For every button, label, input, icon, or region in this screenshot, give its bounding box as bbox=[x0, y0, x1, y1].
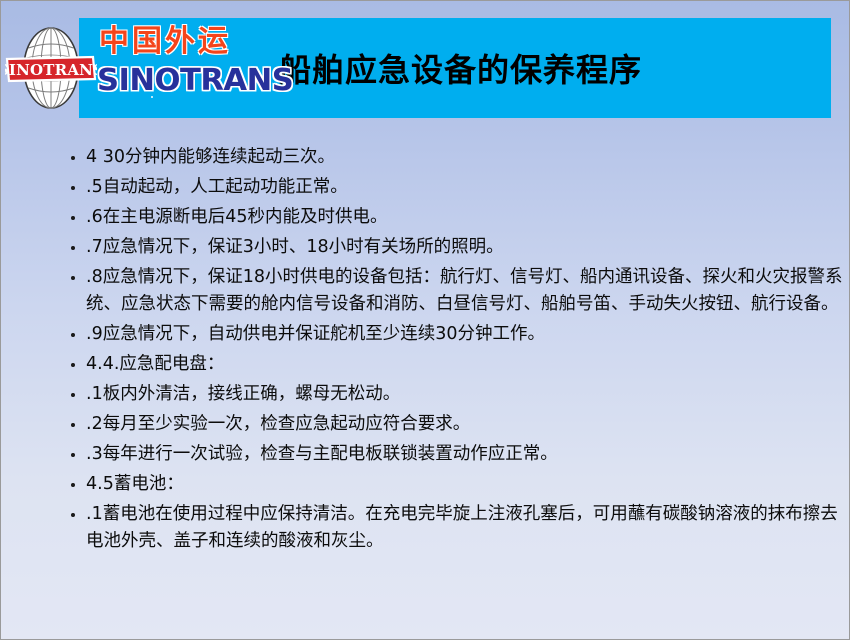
list-item: .9应急情况下，自动供电并保证舵机至少连续30分钟工作。 bbox=[61, 321, 841, 348]
list-item-text: .5自动起动，人工起动功能正常。 bbox=[86, 174, 841, 201]
list-item: .7应急情况下，保证3小时、18小时有关场所的照明。 bbox=[61, 234, 841, 261]
brand-name-chinese: 中国外运 bbox=[99, 25, 231, 59]
list-item-text: 4.5蓄电池： bbox=[86, 471, 841, 498]
presentation-slide: 船舶应急设备的保养程序 SINOTRANS 中国外运 SINOTRANS 4 3… bbox=[0, 0, 850, 640]
list-item: .3每年进行一次试验，检查与主配电板联锁装置动作应正常。 bbox=[61, 441, 841, 468]
list-item: .6在主电源断电后45秒内能及时供电。 bbox=[61, 204, 841, 231]
list-item-text: .8应急情况下，保证18小时供电的设备包括：航行灯、信号灯、船内通讯设备、探火和… bbox=[86, 264, 844, 318]
list-item-text: .7应急情况下，保证3小时、18小时有关场所的照明。 bbox=[86, 234, 841, 261]
brand-name-english: SINOTRANS bbox=[97, 63, 293, 98]
list-item: 4.4.应急配电盘： bbox=[61, 351, 841, 378]
list-item: 4 30分钟内能够连续起动三次。 bbox=[61, 144, 841, 171]
list-item-text: .1板内外清洁，接线正确，螺母无松动。 bbox=[86, 381, 841, 408]
list-item-text: .6在主电源断电后45秒内能及时供电。 bbox=[86, 204, 841, 231]
list-item-text: 4 30分钟内能够连续起动三次。 bbox=[86, 144, 841, 171]
list-item: 4.5蓄电池： bbox=[61, 471, 841, 498]
list-item: .5自动起动，人工起动功能正常。 bbox=[61, 174, 841, 201]
list-item: .2每月至少实验一次，检查应急起动应符合要求。 bbox=[61, 411, 841, 438]
list-item: .1板内外清洁，接线正确，螺母无松动。 bbox=[61, 381, 841, 408]
list-item-text: .1蓄电池在使用过程中应保持清洁。在充电完毕旋上注液孔塞后，可用蘸有碳酸钠溶液的… bbox=[86, 501, 844, 555]
sinotrans-globe-logo-icon: SINOTRANS bbox=[5, 25, 97, 111]
svg-text:SINOTRANS: SINOTRANS bbox=[5, 61, 97, 79]
brand-logo-lockup: SINOTRANS 中国外运 SINOTRANS bbox=[5, 23, 263, 113]
slide-title: 船舶应急设备的保养程序 bbox=[279, 45, 642, 91]
list-item-text: .9应急情况下，自动供电并保证舵机至少连续30分钟工作。 bbox=[86, 321, 841, 348]
list-item: .8应急情况下，保证18小时供电的设备包括：航行灯、信号灯、船内通讯设备、探火和… bbox=[61, 264, 844, 318]
list-item-text: .3每年进行一次试验，检查与主配电板联锁装置动作应正常。 bbox=[86, 441, 841, 468]
slide-body-list: 4 30分钟内能够连续起动三次。 .5自动起动，人工起动功能正常。 .6在主电源… bbox=[61, 144, 841, 558]
list-item-text: .2每月至少实验一次，检查应急起动应符合要求。 bbox=[86, 411, 841, 438]
list-item-text: 4.4.应急配电盘： bbox=[86, 351, 841, 378]
list-item: .1蓄电池在使用过程中应保持清洁。在充电完毕旋上注液孔塞后，可用蘸有碳酸钠溶液的… bbox=[61, 501, 844, 555]
